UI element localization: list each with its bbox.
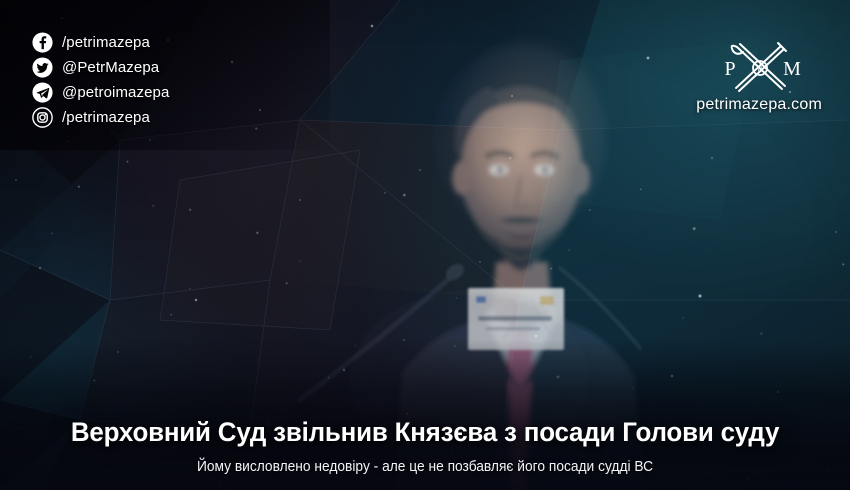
- twitter-icon: [32, 57, 53, 78]
- page-subtitle: Йому висловлено недовіру - але це не поз…: [44, 459, 806, 476]
- brand-url: petrimazepa.com: [696, 96, 822, 114]
- crossed-sabres-logo: 8 P M: [704, 38, 814, 93]
- social-handle-instagram: /petrimazepa: [62, 109, 150, 126]
- social-row-facebook[interactable]: /petrimazepa: [32, 31, 169, 53]
- social-links-block: /petrimazepa @PetrMazepa @petroimazepa: [32, 31, 169, 128]
- social-handle-twitter: @PetrMazepa: [62, 59, 159, 76]
- social-handle-telegram: @petroimazepa: [62, 84, 169, 101]
- news-share-card: /petrimazepa @PetrMazepa @petroimazepa: [0, 0, 850, 490]
- facebook-icon: [32, 32, 53, 53]
- social-row-telegram[interactable]: @petroimazepa: [32, 81, 169, 103]
- social-handle-facebook: /petrimazepa: [62, 34, 150, 51]
- instagram-icon: [32, 107, 53, 128]
- caption-block: Верховний Суд звільнив Князєва з посади …: [0, 417, 850, 476]
- social-row-twitter[interactable]: @PetrMazepa: [32, 56, 169, 78]
- page-title: Верховний Суд звільнив Князєва з посади …: [40, 417, 810, 447]
- svg-text:8: 8: [758, 64, 763, 74]
- brand-letter-p: P: [725, 58, 736, 80]
- telegram-icon: [32, 82, 53, 103]
- brand-letter-m: M: [783, 58, 801, 80]
- brand-logo-block[interactable]: 8 P M petrimazepa.com: [696, 38, 822, 114]
- social-row-instagram[interactable]: /petrimazepa: [32, 106, 169, 128]
